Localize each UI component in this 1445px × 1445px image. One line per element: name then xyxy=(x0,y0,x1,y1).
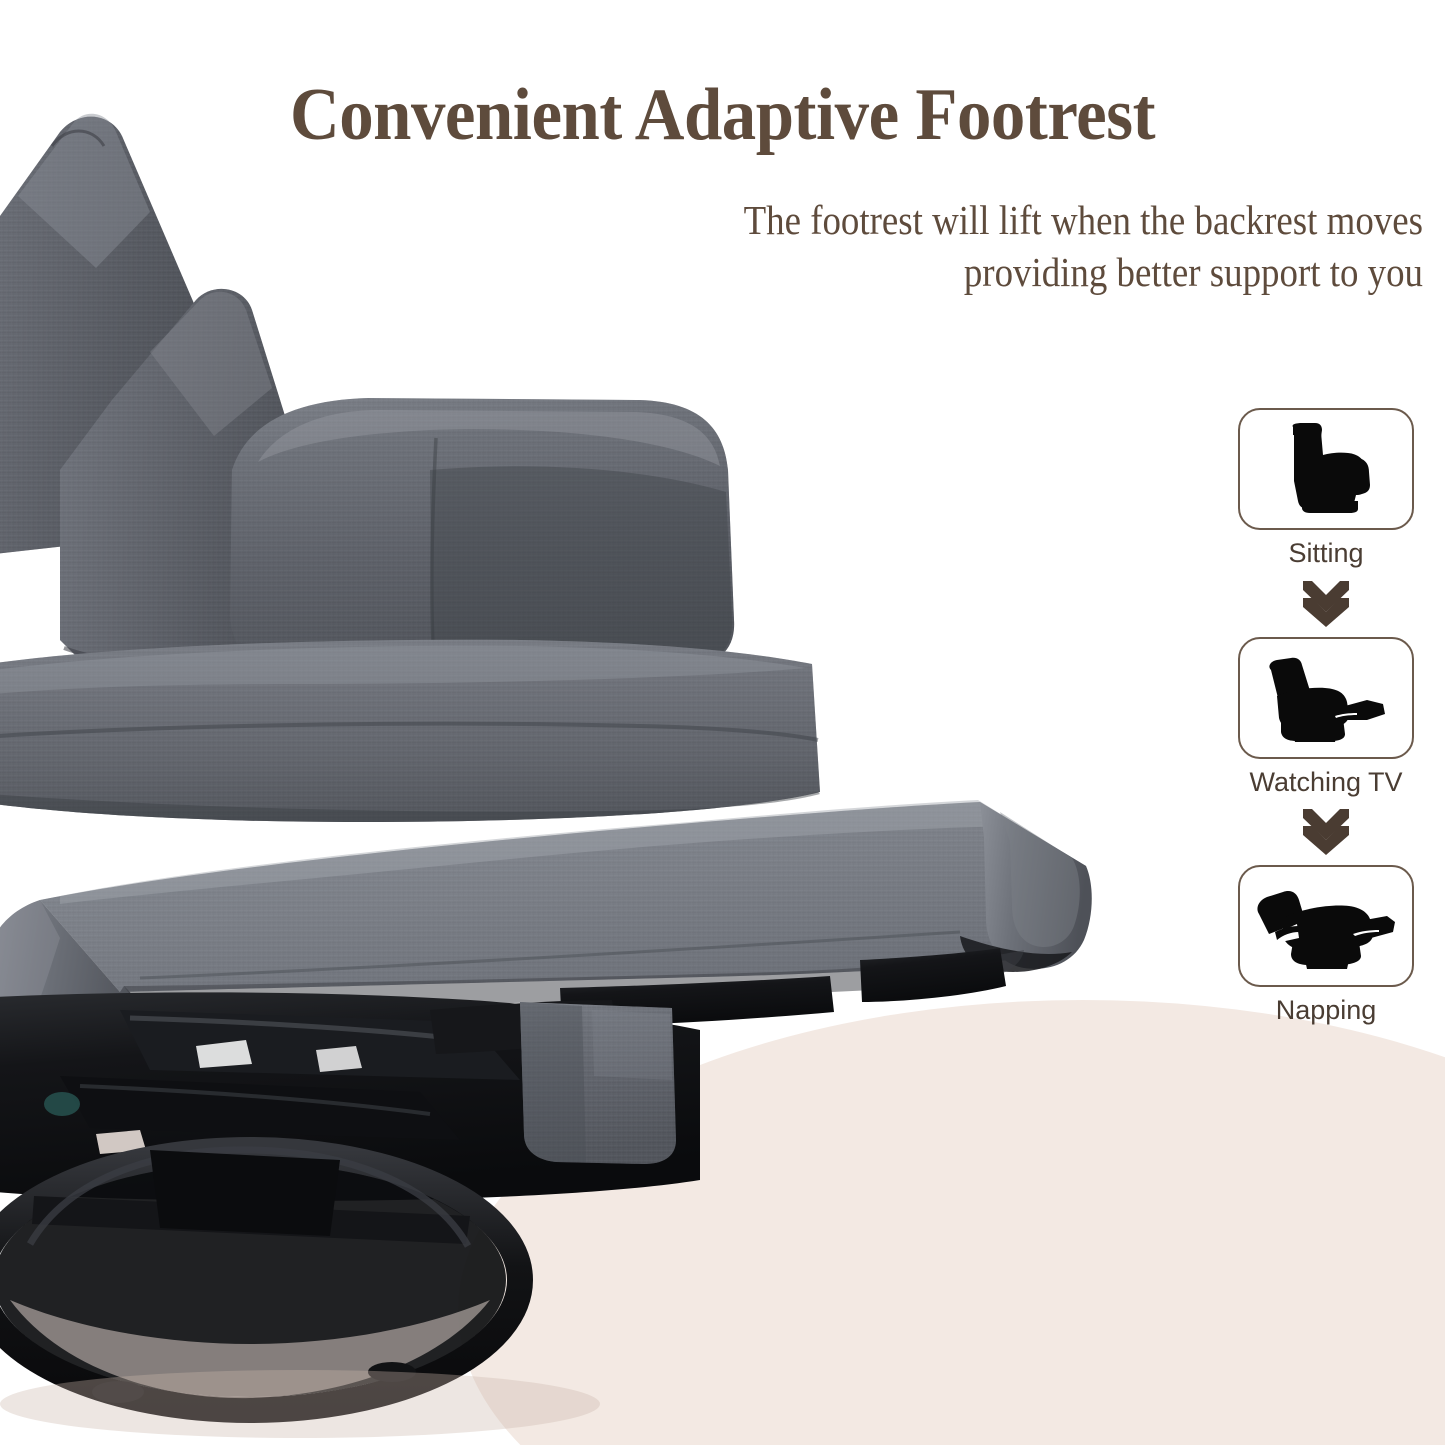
base-side-panel xyxy=(520,1002,676,1164)
seat-cushion xyxy=(0,640,820,822)
state-step-napping: Napping xyxy=(1238,865,1414,1026)
armrest xyxy=(230,398,734,672)
state-step-sitting: Sitting xyxy=(1238,408,1414,569)
state-step-watching-tv: Watching TV xyxy=(1238,637,1414,798)
state-box-napping xyxy=(1238,865,1414,987)
double-chevron-down-icon xyxy=(1298,579,1354,629)
state-label-watching-tv: Watching TV xyxy=(1249,768,1402,798)
state-box-sitting xyxy=(1238,408,1414,530)
recliner-upright-icon xyxy=(1266,421,1386,517)
recliner-partial-recline-icon xyxy=(1257,650,1395,746)
state-label-napping: Napping xyxy=(1276,996,1377,1026)
position-state-flow: Sitting xyxy=(1228,408,1424,1026)
recliner-flat-recline-icon xyxy=(1253,880,1399,972)
double-chevron-down-icon xyxy=(1298,807,1354,857)
marketing-banner: Convenient Adaptive Footrest The footres… xyxy=(0,0,1445,1445)
state-box-watching-tv xyxy=(1238,637,1414,759)
state-label-sitting: Sitting xyxy=(1288,539,1363,569)
